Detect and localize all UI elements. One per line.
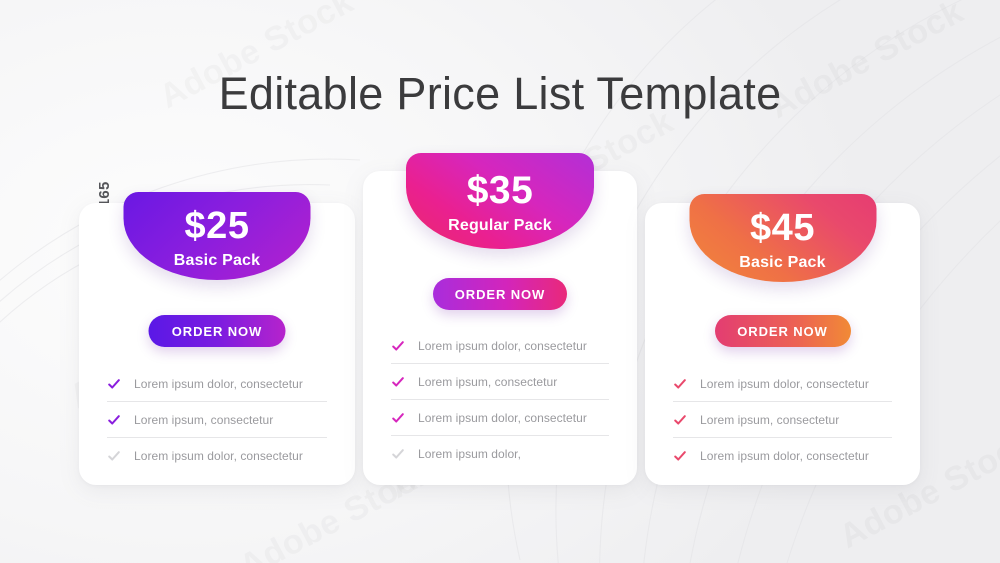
check-icon: [107, 449, 121, 463]
feature-text: Lorem ipsum dolor, consectetur: [134, 449, 303, 463]
plan-name: Basic Pack: [124, 252, 311, 270]
feature-text: Lorem ipsum dolor, consectetur: [418, 339, 587, 353]
pricing-template-canvas: Adobe Stock Adobe Stock Adobe Stock Adob…: [0, 0, 1000, 563]
price-badge: $25 Basic Pack: [124, 192, 311, 280]
price-amount: $35: [406, 153, 594, 210]
check-icon: [107, 377, 121, 391]
feature-text: Lorem ipsum dolor, consectetur: [700, 449, 869, 463]
plan-name: Regular Pack: [406, 217, 594, 235]
feature-row: Lorem ipsum dolor, consectetur: [107, 438, 327, 474]
price-badge: $45 Basic Pack: [689, 194, 876, 282]
feature-row: Lorem ipsum dolor, consectetur: [107, 366, 327, 402]
page-title: Editable Price List Template: [0, 68, 1000, 120]
check-icon: [391, 447, 405, 461]
check-icon: [391, 375, 405, 389]
feature-list: Lorem ipsum dolor, consectetur Lorem ips…: [391, 328, 609, 472]
order-now-button[interactable]: ORDER NOW: [433, 278, 567, 310]
feature-text: Lorem ipsum dolor, consectetur: [418, 411, 587, 425]
order-now-button[interactable]: ORDER NOW: [715, 315, 851, 347]
feature-list: Lorem ipsum dolor, consectetur Lorem ips…: [673, 366, 892, 474]
order-now-button[interactable]: ORDER NOW: [149, 315, 286, 347]
feature-text: Lorem ipsum, consectetur: [418, 375, 557, 389]
plan-name: Basic Pack: [689, 254, 876, 272]
feature-text: Lorem ipsum dolor, consectetur: [134, 377, 303, 391]
price-badge: $35 Regular Pack: [406, 153, 594, 249]
price-amount: $45: [689, 194, 876, 247]
feature-text: Lorem ipsum dolor,: [418, 447, 521, 461]
feature-list: Lorem ipsum dolor, consectetur Lorem ips…: [107, 366, 327, 474]
feature-row: Lorem ipsum, consectetur: [673, 402, 892, 438]
check-icon: [391, 411, 405, 425]
feature-row: Lorem ipsum, consectetur: [107, 402, 327, 438]
pricing-card-regular-35[interactable]: $35 Regular Pack ORDER NOW Lorem ipsum d…: [363, 171, 637, 485]
pricing-card-basic-25[interactable]: $25 Basic Pack ORDER NOW Lorem ipsum dol…: [79, 203, 355, 485]
check-icon: [673, 377, 687, 391]
check-icon: [107, 413, 121, 427]
feature-row: Lorem ipsum dolor, consectetur: [391, 400, 609, 436]
feature-row: Lorem ipsum, consectetur: [391, 364, 609, 400]
feature-row: Lorem ipsum dolor, consectetur: [673, 438, 892, 474]
feature-row: Lorem ipsum dolor, consectetur: [391, 328, 609, 364]
feature-text: Lorem ipsum, consectetur: [134, 413, 273, 427]
check-icon: [673, 413, 687, 427]
feature-text: Lorem ipsum, consectetur: [700, 413, 839, 427]
feature-row: Lorem ipsum dolor, consectetur: [673, 366, 892, 402]
pricing-card-basic-45[interactable]: $45 Basic Pack ORDER NOW Lorem ipsum dol…: [645, 203, 920, 485]
price-amount: $25: [124, 192, 311, 245]
check-icon: [391, 339, 405, 353]
feature-text: Lorem ipsum dolor, consectetur: [700, 377, 869, 391]
feature-row: Lorem ipsum dolor,: [391, 436, 609, 472]
check-icon: [673, 449, 687, 463]
